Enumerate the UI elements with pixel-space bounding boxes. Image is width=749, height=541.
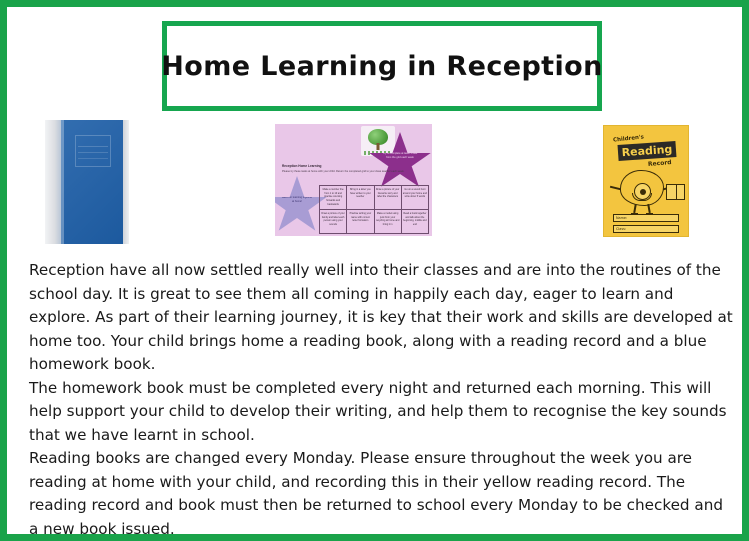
- grid-subheading: Please try these tasks at home with your…: [282, 170, 422, 174]
- light-star-text: Have fun learning together at home!: [281, 196, 313, 204]
- reading-record-class-label: Class:: [616, 227, 626, 231]
- body-text: Reception have all now settled really we…: [29, 259, 735, 541]
- reading-record-name-label: Name:: [616, 216, 627, 220]
- page-title: Home Learning in Reception: [161, 51, 602, 82]
- grid-task-cell: Make a model using junk from your recycl…: [375, 210, 402, 234]
- reading-record-class-field: Class:: [613, 225, 679, 233]
- monster-leg-right-icon: [647, 204, 650, 213]
- book-label-box: [75, 135, 112, 167]
- reading-record-record-text: Record: [648, 159, 672, 168]
- grid-task-table: Make a number line from 1 to 10 and prac…: [319, 185, 429, 234]
- grid-task-cell: Draw a picture of your family and label …: [320, 210, 347, 234]
- book-cover: [61, 120, 123, 244]
- grid-task-cell: Practise writing your name with correct …: [347, 210, 374, 234]
- grid-task-cell: Draw a picture of your favourite story a…: [375, 186, 402, 210]
- grid-task-cell: Go on a sound hunt around your home and …: [402, 186, 429, 210]
- yellow-reading-record-image: Children's Reading Record Name:: [603, 125, 689, 237]
- open-book-icon: [666, 184, 685, 200]
- school-logo-icon: [361, 126, 395, 156]
- tree-trunk-icon: [377, 143, 380, 150]
- monster-character-icon: [620, 170, 664, 206]
- body-paragraph: Reception have all now settled really we…: [29, 259, 735, 377]
- reading-record-banner: Reading: [618, 141, 677, 161]
- body-paragraph: The homework book must be completed ever…: [29, 377, 735, 448]
- grid-heading-block: Reception Home Learning Please try these…: [282, 164, 422, 174]
- blue-homework-book-image: [45, 120, 129, 244]
- monster-mouth-icon: [632, 193, 652, 201]
- book-page-edge: [123, 120, 129, 244]
- reading-record-childrens-text: Children's: [613, 134, 644, 143]
- home-learning-grid-image: Try to complete at least 1 task from the…: [275, 124, 432, 236]
- grid-task-cell: Bring in a letter you have written to yo…: [347, 186, 374, 210]
- book-spine: [45, 120, 61, 244]
- body-paragraph: Reading books are changed every Monday. …: [29, 447, 735, 541]
- grid-heading: Reception Home Learning: [282, 164, 422, 168]
- images-row: Try to complete at least 1 task from the…: [7, 119, 742, 245]
- monster-leg-left-icon: [633, 204, 636, 213]
- reading-record-name-field: Name:: [613, 214, 679, 222]
- reading-record-reading-text: Reading: [621, 143, 672, 160]
- grid-task-cell: Read a book together and talk about the …: [402, 210, 429, 234]
- monster-arm-left-icon: [610, 186, 621, 190]
- page-title-box: Home Learning in Reception: [162, 21, 602, 111]
- newsletter-page: Home Learning in Reception Try to comple…: [0, 0, 749, 541]
- grid-task-cell: Make a number line from 1 to 10 and prac…: [320, 186, 347, 210]
